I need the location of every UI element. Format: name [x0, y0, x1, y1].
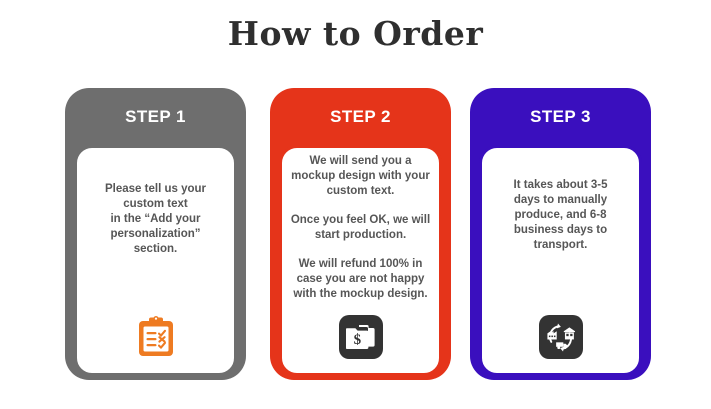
step-icon-slot-1 — [133, 314, 179, 360]
step-paragraph: It takes about 3-5days to manuallyproduc… — [489, 178, 632, 253]
step-body-1: Please tell us yourcustom textin the “Ad… — [84, 182, 227, 257]
step-paragraph: Once you feel OK, we willstart productio… — [289, 213, 432, 243]
step-card-2: STEP 2 We will send you amockup design w… — [270, 88, 451, 380]
step-paragraph: Please tell us yourcustom textin the “Ad… — [84, 182, 227, 257]
step-body-2: We will send you amockup design with you… — [289, 154, 432, 302]
step-panel-3: It takes about 3-5days to manuallyproduc… — [479, 145, 642, 376]
steps-container: STEP 1 Please tell us yourcustom textin … — [0, 88, 711, 382]
clipboard-checklist-icon — [134, 315, 178, 359]
step-label-2: STEP 2 — [270, 107, 451, 127]
step-body-3: It takes about 3-5days to manuallyproduc… — [489, 178, 632, 253]
step-label-3: STEP 3 — [470, 107, 651, 127]
step-card-1: STEP 1 Please tell us yourcustom textin … — [65, 88, 246, 380]
step-icon-slot-2: $ — [338, 314, 384, 360]
step-card-3: STEP 3 It takes about 3-5days to manuall… — [470, 88, 651, 380]
step-paragraph: We will send you amockup design with you… — [289, 154, 432, 199]
step-paragraph: We will refund 100% incase you are not h… — [289, 257, 432, 302]
step-panel-2: We will send you amockup design with you… — [279, 145, 442, 376]
step-panel-1: Please tell us yourcustom textin the “Ad… — [74, 145, 237, 376]
icon-tile-2: $ — [339, 315, 383, 359]
icon-tile-3 — [539, 315, 583, 359]
step-label-1: STEP 1 — [65, 107, 246, 127]
page-title: How to Order — [0, 14, 711, 53]
svg-text:$: $ — [353, 332, 361, 348]
step-icon-slot-3 — [538, 314, 584, 360]
